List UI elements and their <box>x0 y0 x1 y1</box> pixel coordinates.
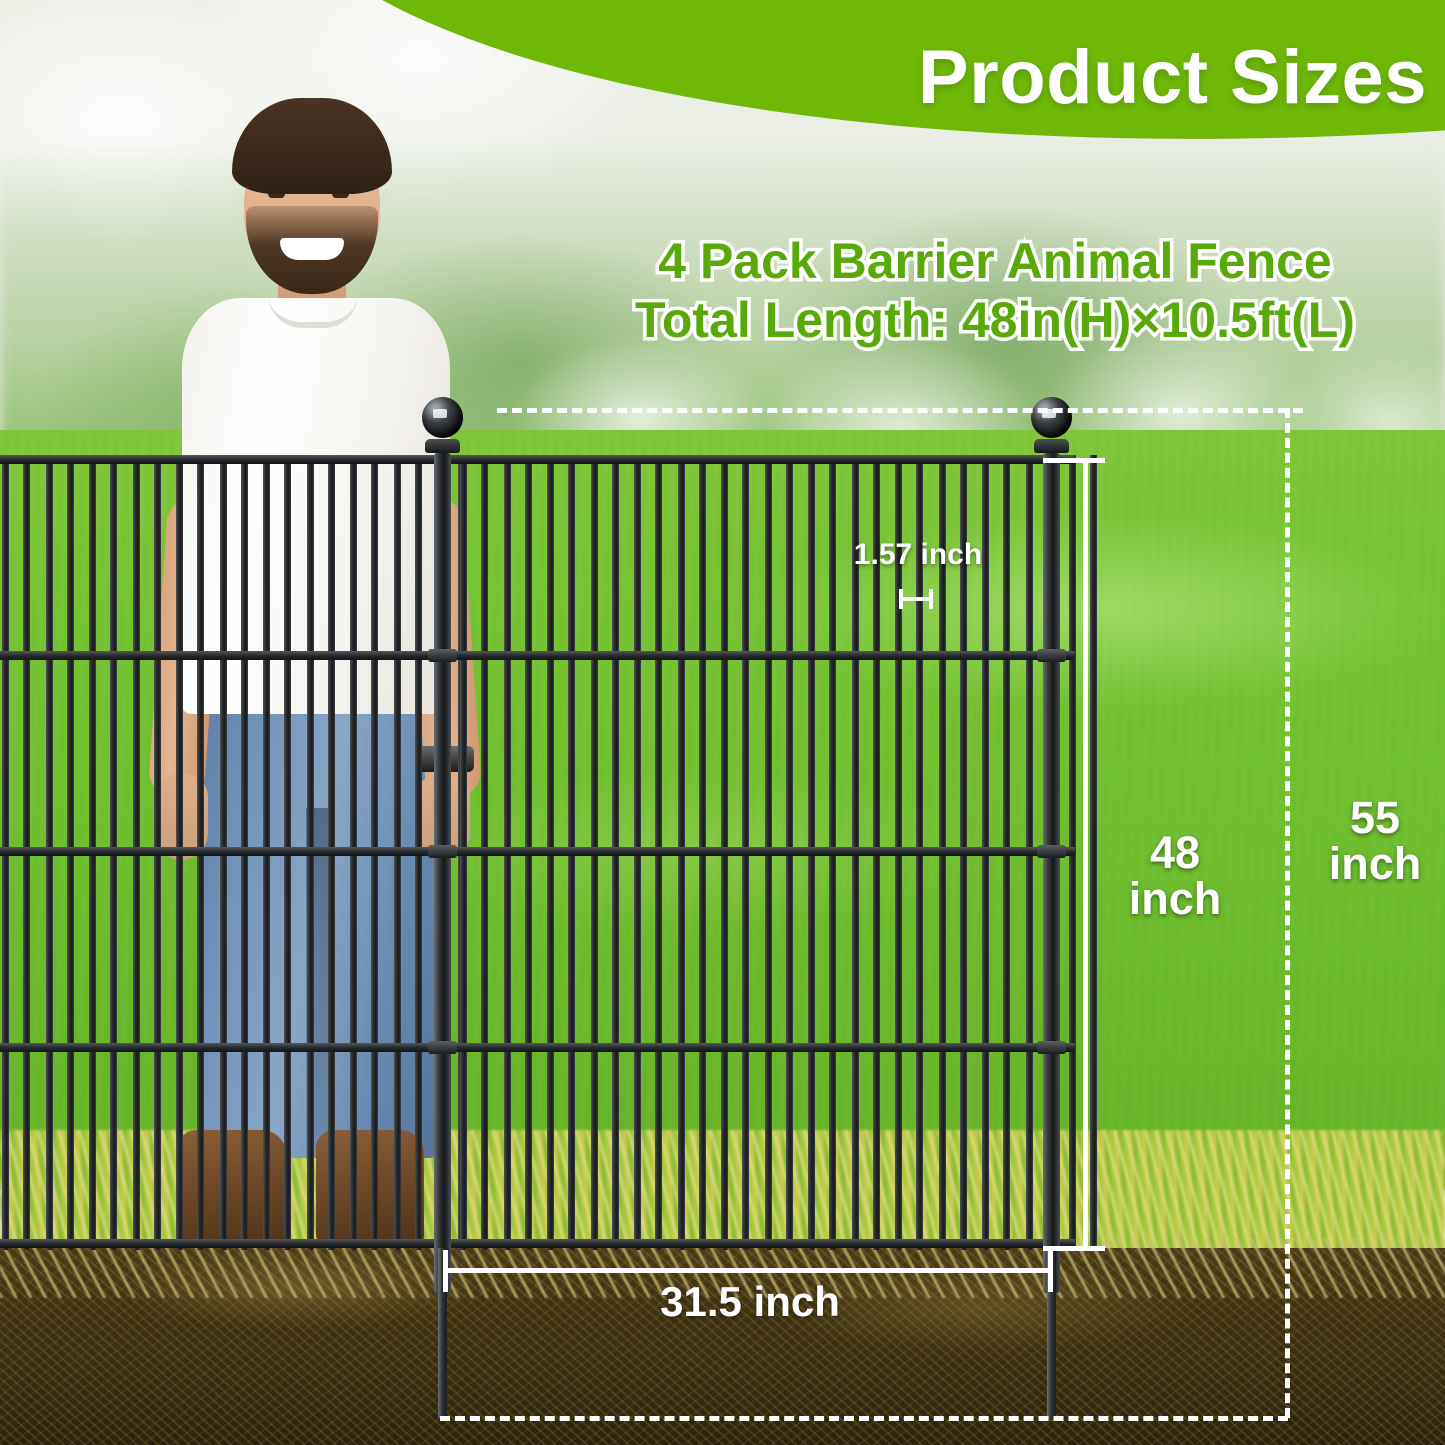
fence-vertical-bar <box>1090 455 1097 1250</box>
post-clamp <box>1037 649 1066 662</box>
fence-horizontal-rail <box>452 847 1075 856</box>
post-clamp <box>428 845 457 858</box>
ground-stake-right <box>1047 1248 1056 1418</box>
post-clamp <box>428 649 457 662</box>
product-infographic: 1.57 inch 48 inch 55 inch 31.5 inch Prod… <box>0 0 1445 1445</box>
post-clamp <box>428 1041 457 1054</box>
page-title: Product Sizes <box>527 34 1427 121</box>
fence-post-center <box>434 453 451 1293</box>
post-clamp <box>1037 1041 1066 1054</box>
fence-assembly <box>0 455 1075 1250</box>
ground-stake-center <box>438 1248 447 1418</box>
fence-horizontal-rail <box>0 455 452 464</box>
product-length-line: Total Length: 48in(H)×10.5ft(L) <box>555 291 1435 350</box>
smile <box>280 238 344 260</box>
fence-horizontal-rail <box>452 1239 1075 1248</box>
post-cap <box>1034 439 1069 453</box>
fence-horizontal-rail <box>0 1043 452 1052</box>
post-cap <box>425 439 460 453</box>
fence-horizontal-rail <box>0 651 452 660</box>
product-name-line: 4 Pack Barrier Animal Fence <box>555 232 1435 291</box>
fence-horizontal-rail <box>452 455 1075 464</box>
fence-horizontal-rail <box>452 651 1075 660</box>
fence-panel-right <box>452 455 1075 1250</box>
fence-panel-left <box>0 455 452 1250</box>
post-ball-finial-icon <box>422 397 463 438</box>
post-clamp <box>1037 845 1066 858</box>
fence-horizontal-rail <box>0 1239 452 1248</box>
hair <box>232 98 392 194</box>
fence-horizontal-rail <box>452 1043 1075 1052</box>
product-description: 4 Pack Barrier Animal Fence Total Length… <box>555 232 1435 349</box>
fence-horizontal-rail <box>0 847 452 856</box>
post-ball-finial-icon <box>1031 397 1072 438</box>
fence-post-right <box>1043 453 1060 1293</box>
